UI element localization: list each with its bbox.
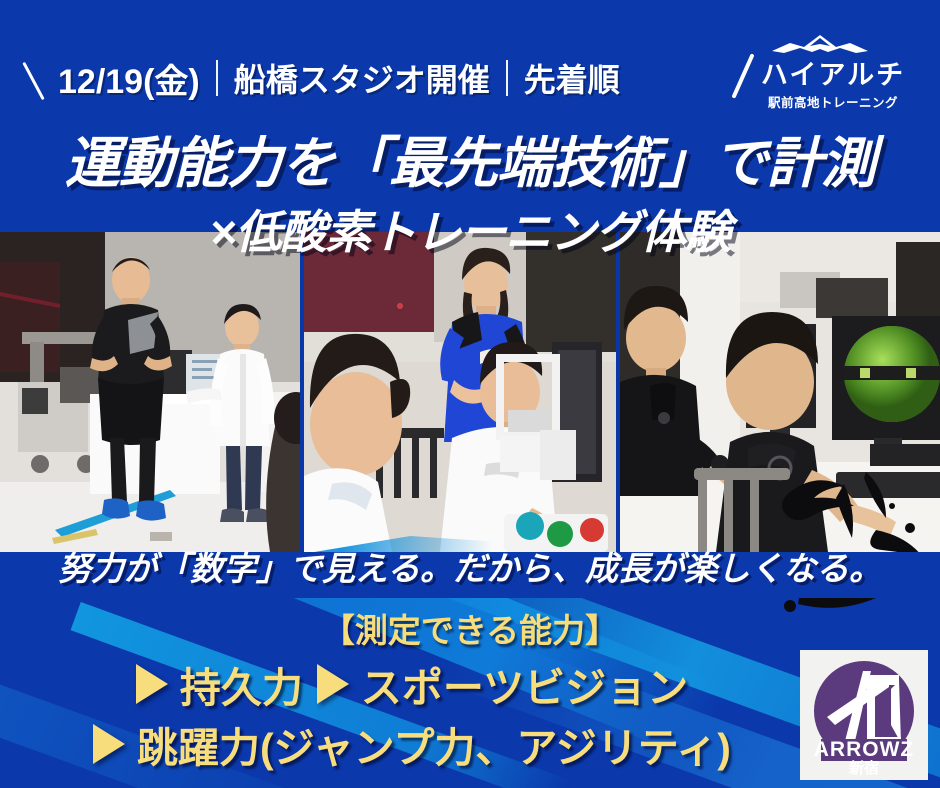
event-venue: 船橋スタジオ開催	[234, 55, 490, 101]
promo-poster: 12/19(金) 船橋スタジオ開催 先着順 ハイアルチ 駅前高地トレーニング 運…	[0, 0, 940, 788]
headline-line-2: ×低酸素トレーニング体験	[0, 196, 940, 262]
event-date: 12/19(金)	[58, 54, 200, 103]
triangle-bullet-icon	[93, 724, 125, 764]
tagline-text: 努力が「数字」で見える。だから、成長が楽しくなる。	[0, 540, 940, 592]
ability-row-2: 跳躍力(ジャンプ力、アジリティ)	[0, 714, 940, 774]
kicker-divider-2	[506, 60, 508, 96]
arrowz-wordmark: ARROWZ	[814, 738, 914, 761]
brand-logo: ハイアルチ 駅前高地トレーニング	[740, 34, 926, 112]
ability-item-endurance: 持久力	[180, 654, 303, 714]
event-kicker: 12/19(金) 船橋スタジオ開催 先着順	[58, 52, 748, 104]
abilities-title: 【測定できる能力】	[0, 604, 940, 652]
brand-tagline: 駅前高地トレーニング	[740, 92, 926, 111]
mountain-icon	[740, 34, 900, 60]
photo-sports-vision-test	[304, 232, 616, 552]
event-note: 先着順	[524, 55, 620, 101]
photo-strip	[0, 232, 940, 552]
kicker-divider-1	[216, 60, 218, 96]
ability-item-jump: 跳躍力(ジャンプ力、アジリティ)	[137, 714, 731, 774]
photo-reaction-screen	[620, 232, 940, 552]
ability-row-1: 持久力 スポーツビジョン	[0, 654, 940, 714]
triangle-bullet-icon	[317, 664, 349, 704]
slash-left-decoration	[22, 62, 44, 100]
arrowz-branch: 新宿	[848, 760, 879, 775]
headline-line-1: 運動能力を「最先端技術」で計測	[0, 118, 940, 198]
photo-body-composition	[0, 232, 300, 552]
ability-item-sports-vision: スポーツビジョン	[361, 654, 688, 714]
arrowz-logo: ARROWZ 新宿	[800, 650, 928, 780]
brand-name: ハイアルチ	[740, 61, 926, 89]
triangle-bullet-icon	[136, 664, 168, 704]
